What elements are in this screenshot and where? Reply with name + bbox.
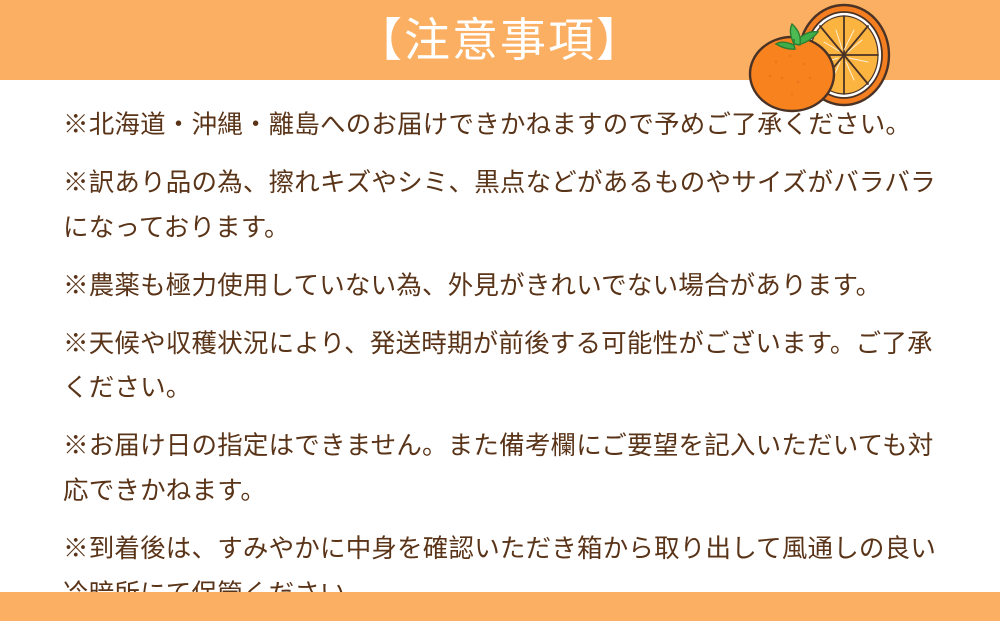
notice-item: ※訳あり品の為、擦れキズやシミ、黒点などがあるものやサイズがバラバラになっており…	[63, 161, 943, 251]
notice-item: ※農薬も極力使用していない為、外見がきれいでない場合があります。	[63, 264, 943, 309]
notice-item: ※北海道・沖縄・離島へのお届けできかねますので予めご了承ください。	[63, 103, 943, 148]
page-title: 【注意事項】	[0, 0, 1000, 80]
notice-list: ※北海道・沖縄・離島へのお届けできかねますので予めご了承ください。 ※訳あり品の…	[63, 103, 943, 617]
footer-bar	[0, 592, 1000, 621]
notice-banner: 【注意事項】	[0, 0, 1000, 621]
notice-item: ※天候や収穫状況により、発送時期が前後する可能性がございます。ご了承ください。	[63, 322, 943, 412]
notice-item: ※お届け日の指定はできません。また備考欄にご要望を記入いただいても対応できかねま…	[63, 424, 943, 514]
